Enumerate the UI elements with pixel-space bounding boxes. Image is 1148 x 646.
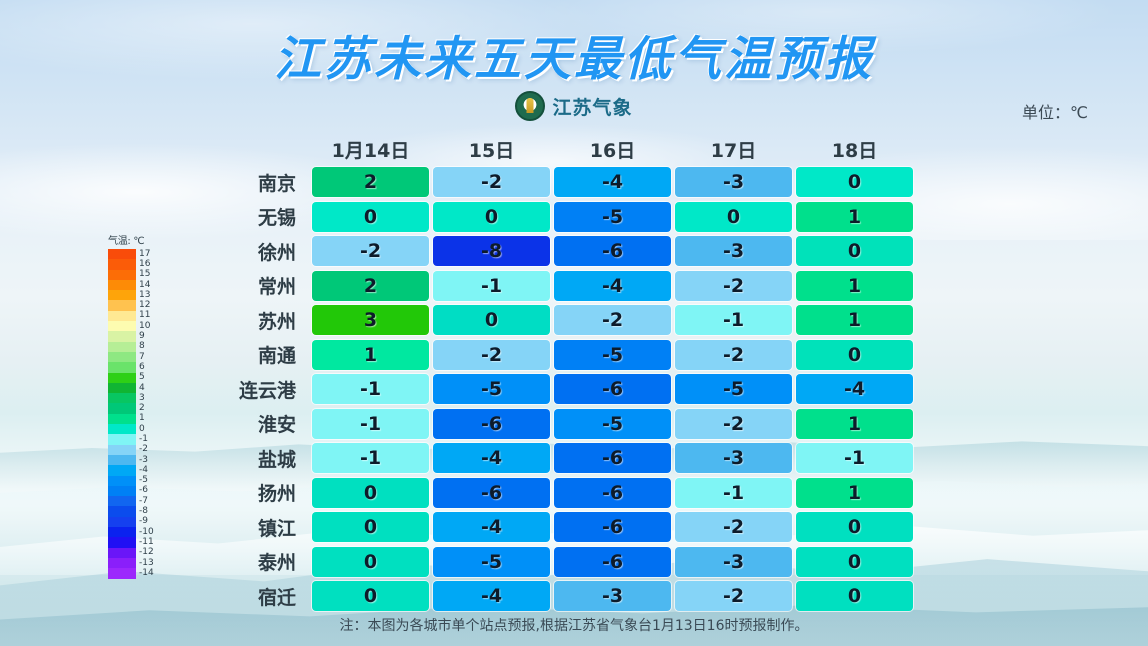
legend-color-swatch — [108, 414, 136, 424]
temperature-cell: 1 — [312, 340, 429, 370]
date-header: 17日 — [673, 136, 794, 163]
table-row: 镇江0-4-6-20 — [195, 510, 915, 545]
legend-entry: -6 — [108, 486, 162, 496]
legend-entry: 17 — [108, 249, 162, 259]
temperature-cell-wrapper: -2 — [673, 338, 794, 373]
temperature-cell-wrapper: -5 — [673, 372, 794, 407]
legend-color-swatch — [108, 270, 136, 280]
table-row: 淮安-1-6-5-21 — [195, 407, 915, 442]
legend-tick-label: 7 — [139, 353, 145, 362]
temperature-cell: 2 — [312, 271, 429, 301]
legend-entry: 6 — [108, 362, 162, 372]
legend-entry: -2 — [108, 445, 162, 455]
temperature-cell-wrapper: 0 — [794, 338, 915, 373]
legend-tick-label: 14 — [139, 281, 150, 290]
temperature-cell: -1 — [312, 409, 429, 439]
temperature-cell-wrapper: -2 — [552, 303, 673, 338]
temperature-cell-wrapper: -6 — [431, 476, 552, 511]
temperature-cell-wrapper: -1 — [794, 441, 915, 476]
temperature-cell: 3 — [312, 305, 429, 335]
temperature-cell-wrapper: 0 — [310, 579, 431, 614]
legend-tick-label: -12 — [139, 548, 154, 557]
legend-color-swatch — [108, 362, 136, 372]
legend-color-swatch — [108, 527, 136, 537]
legend-tick-label: -2 — [139, 445, 148, 454]
legend-color-swatch — [108, 424, 136, 434]
legend-entry: 12 — [108, 300, 162, 310]
temperature-cell: -5 — [554, 409, 671, 439]
temperature-cell: -6 — [433, 409, 550, 439]
table-row: 无锡00-501 — [195, 200, 915, 235]
temperature-cell: -6 — [554, 547, 671, 577]
legend-tick-label: -10 — [139, 528, 154, 537]
forecast-table: 1月14日 15日 16日 17日 18日 南京2-2-4-30无锡00-501… — [195, 133, 915, 614]
temperature-cell: -2 — [675, 409, 792, 439]
temperature-cell-wrapper: 0 — [310, 510, 431, 545]
temperature-cell-wrapper: 3 — [310, 303, 431, 338]
temperature-cell: -3 — [675, 443, 792, 473]
legend-tick-label: 13 — [139, 291, 150, 300]
temperature-cell-wrapper: -2 — [431, 165, 552, 200]
temperature-cell-wrapper: 0 — [794, 234, 915, 269]
temperature-cell: 0 — [796, 236, 913, 266]
legend-color-swatch — [108, 506, 136, 516]
temperature-cell-wrapper: 1 — [794, 476, 915, 511]
temperature-cell-wrapper: 0 — [310, 476, 431, 511]
table-row: 南通1-2-5-20 — [195, 338, 915, 373]
temperature-cell-wrapper: 0 — [431, 200, 552, 235]
legend-entry: 10 — [108, 321, 162, 331]
legend-color-swatch — [108, 259, 136, 269]
temperature-cell-wrapper: -2 — [673, 579, 794, 614]
legend-color-swatch — [108, 280, 136, 290]
legend-color-swatch — [108, 517, 136, 527]
legend-color-swatch — [108, 290, 136, 300]
legend-tick-label: 1 — [139, 414, 145, 423]
table-row: 连云港-1-5-6-5-4 — [195, 372, 915, 407]
temperature-cell: 1 — [796, 202, 913, 232]
legend-tick-label: 4 — [139, 384, 145, 393]
temperature-cell-wrapper: -2 — [673, 510, 794, 545]
legend-entry: -12 — [108, 548, 162, 558]
temperature-cell-wrapper: -3 — [673, 545, 794, 580]
temperature-cell: 0 — [796, 512, 913, 542]
legend-entry: -10 — [108, 527, 162, 537]
temperature-cell: -2 — [675, 340, 792, 370]
legend-entry: -14 — [108, 568, 162, 578]
temperature-cell: -5 — [433, 547, 550, 577]
table-row: 宿迁0-4-3-20 — [195, 579, 915, 614]
legend-tick-label: -11 — [139, 538, 154, 547]
legend-tick-label: -6 — [139, 486, 148, 495]
temperature-cell: 0 — [433, 305, 550, 335]
date-header: 15日 — [431, 136, 552, 163]
temperature-cell-wrapper: 1 — [794, 303, 915, 338]
legend-color-swatch — [108, 393, 136, 403]
temperature-cell: 0 — [675, 202, 792, 232]
temperature-cell-wrapper: 1 — [794, 269, 915, 304]
temperature-cell-wrapper: -2 — [673, 407, 794, 442]
temperature-cell-wrapper: -4 — [552, 165, 673, 200]
table-row: 徐州-2-8-6-30 — [195, 234, 915, 269]
temperature-cell: -2 — [312, 236, 429, 266]
legend-tick-label: -8 — [139, 507, 148, 516]
legend-tick-label: 5 — [139, 373, 145, 382]
temperature-colorbar-legend: 气温: ℃ 17161514131211109876543210-1-2-3-4… — [108, 232, 162, 579]
brand-logo: 江苏气象 — [0, 91, 1148, 121]
legend-tick-label: 16 — [139, 260, 150, 269]
legend-tick-label: -7 — [139, 497, 148, 506]
legend-color-swatch — [108, 331, 136, 341]
temperature-cell: -6 — [554, 443, 671, 473]
temperature-cell-wrapper: -6 — [552, 234, 673, 269]
legend-color-swatch — [108, 373, 136, 383]
legend-tick-label: 3 — [139, 394, 145, 403]
city-name-cell: 淮安 — [195, 410, 310, 437]
temperature-cell-wrapper: -3 — [673, 165, 794, 200]
legend-entry: 9 — [108, 331, 162, 341]
footnote: 注：本图为各城市单个站点预报,根据江苏省气象台1月13日16时预报制作。 — [0, 615, 1148, 635]
temperature-cell-wrapper: -5 — [552, 407, 673, 442]
legend-entry: 13 — [108, 290, 162, 300]
temperature-cell: -2 — [675, 581, 792, 611]
temperature-cell: -4 — [796, 374, 913, 404]
temperature-cell: -4 — [554, 271, 671, 301]
temperature-cell: 1 — [796, 271, 913, 301]
temperature-cell-wrapper: 0 — [794, 579, 915, 614]
temperature-cell-wrapper: -6 — [552, 441, 673, 476]
temperature-cell-wrapper: -5 — [552, 338, 673, 373]
temperature-cell: -4 — [433, 512, 550, 542]
legend-color-swatch — [108, 558, 136, 568]
temperature-cell: -1 — [312, 374, 429, 404]
temperature-cell: 0 — [312, 478, 429, 508]
temperature-cell: -3 — [675, 547, 792, 577]
temperature-cell-wrapper: -1 — [310, 407, 431, 442]
date-header: 16日 — [552, 136, 673, 163]
temperature-cell: 0 — [312, 581, 429, 611]
legend-swatch-list: 17161514131211109876543210-1-2-3-4-5-6-7… — [108, 249, 162, 579]
legend-tick-label: -5 — [139, 476, 148, 485]
temperature-cell: -2 — [675, 271, 792, 301]
temperature-cell-wrapper: -6 — [552, 510, 673, 545]
legend-tick-label: 0 — [139, 425, 145, 434]
temperature-cell-wrapper: 0 — [794, 165, 915, 200]
table-body: 南京2-2-4-30无锡00-501徐州-2-8-6-30常州2-1-4-21苏… — [195, 165, 915, 614]
date-header: 18日 — [794, 136, 915, 163]
temperature-cell: -3 — [675, 236, 792, 266]
temperature-cell-wrapper: -1 — [673, 303, 794, 338]
legend-tick-label: -9 — [139, 517, 148, 526]
temperature-cell-wrapper: -4 — [431, 441, 552, 476]
temperature-cell: -6 — [554, 512, 671, 542]
temperature-cell: -6 — [554, 374, 671, 404]
temperature-cell-wrapper: -4 — [431, 510, 552, 545]
temperature-cell: 1 — [796, 409, 913, 439]
legend-entry: -1 — [108, 434, 162, 444]
legend-entry: 2 — [108, 403, 162, 413]
legend-entry: 16 — [108, 259, 162, 269]
temperature-cell: -3 — [675, 167, 792, 197]
temperature-cell: -5 — [433, 374, 550, 404]
table-header-row: 1月14日 15日 16日 17日 18日 — [195, 133, 915, 165]
legend-entry: -3 — [108, 455, 162, 465]
temperature-cell-wrapper: 0 — [431, 303, 552, 338]
legend-tick-label: 11 — [139, 311, 150, 320]
legend-entry: -7 — [108, 496, 162, 506]
temperature-cell-wrapper: -2 — [673, 269, 794, 304]
table-row: 苏州30-2-11 — [195, 303, 915, 338]
legend-color-swatch — [108, 342, 136, 352]
temperature-cell-wrapper: -1 — [310, 441, 431, 476]
temperature-cell: -1 — [433, 271, 550, 301]
legend-entry: -13 — [108, 558, 162, 568]
legend-entry: 8 — [108, 342, 162, 352]
temperature-cell-wrapper: 0 — [794, 510, 915, 545]
temperature-cell-wrapper: -6 — [431, 407, 552, 442]
legend-entry: 15 — [108, 270, 162, 280]
legend-entry: 4 — [108, 383, 162, 393]
temperature-cell-wrapper: 1 — [794, 200, 915, 235]
temperature-cell-wrapper: 1 — [794, 407, 915, 442]
legend-entry: 3 — [108, 393, 162, 403]
temperature-cell-wrapper: -8 — [431, 234, 552, 269]
legend-color-swatch — [108, 403, 136, 413]
temperature-cell-wrapper: -4 — [431, 579, 552, 614]
table-row: 常州2-1-4-21 — [195, 269, 915, 304]
temperature-cell: -8 — [433, 236, 550, 266]
legend-color-swatch — [108, 352, 136, 362]
temperature-cell-wrapper: -4 — [794, 372, 915, 407]
temperature-cell-wrapper: -1 — [673, 476, 794, 511]
temperature-cell: -6 — [554, 478, 671, 508]
legend-entry: 0 — [108, 424, 162, 434]
legend-color-swatch — [108, 548, 136, 558]
temperature-cell: -4 — [433, 443, 550, 473]
unit-label: 单位：℃ — [1022, 99, 1088, 123]
temperature-cell-wrapper: -6 — [552, 476, 673, 511]
city-name-cell: 泰州 — [195, 548, 310, 575]
legend-entry: 7 — [108, 352, 162, 362]
city-name-cell: 南京 — [195, 169, 310, 196]
table-row: 盐城-1-4-6-3-1 — [195, 441, 915, 476]
legend-entry: 14 — [108, 280, 162, 290]
temperature-cell: 0 — [796, 340, 913, 370]
legend-color-swatch — [108, 465, 136, 475]
city-name-cell: 常州 — [195, 272, 310, 299]
temperature-cell: 0 — [796, 167, 913, 197]
legend-tick-label: 9 — [139, 332, 145, 341]
legend-entry: -9 — [108, 517, 162, 527]
table-row: 泰州0-5-6-30 — [195, 545, 915, 580]
temperature-cell-wrapper: -4 — [552, 269, 673, 304]
legend-entry: 1 — [108, 414, 162, 424]
legend-entry: -8 — [108, 506, 162, 516]
legend-tick-label: -4 — [139, 466, 148, 475]
temperature-cell-wrapper: -3 — [673, 234, 794, 269]
legend-color-swatch — [108, 537, 136, 547]
legend-tick-label: -13 — [139, 559, 154, 568]
legend-entry: -11 — [108, 537, 162, 547]
temperature-cell-wrapper: 0 — [310, 545, 431, 580]
legend-tick-label: 8 — [139, 342, 145, 351]
temperature-cell: 0 — [796, 581, 913, 611]
temperature-cell: 1 — [796, 305, 913, 335]
legend-color-swatch — [108, 476, 136, 486]
temperature-cell-wrapper: -2 — [431, 338, 552, 373]
temperature-cell: -6 — [433, 478, 550, 508]
legend-title: 气温: ℃ — [108, 232, 162, 247]
legend-tick-label: 2 — [139, 404, 145, 413]
legend-entry: 5 — [108, 373, 162, 383]
temperature-cell-wrapper: 0 — [310, 200, 431, 235]
legend-tick-label: -14 — [139, 569, 154, 578]
legend-entry: -5 — [108, 476, 162, 486]
temperature-cell: -2 — [433, 167, 550, 197]
temperature-cell-wrapper: -6 — [552, 545, 673, 580]
legend-color-swatch — [108, 300, 136, 310]
temperature-cell-wrapper: -6 — [552, 372, 673, 407]
temperature-cell: 2 — [312, 167, 429, 197]
city-name-cell: 镇江 — [195, 514, 310, 541]
temperature-cell: -5 — [675, 374, 792, 404]
jiangsu-meteorology-emblem-icon — [515, 91, 545, 121]
city-name-cell: 连云港 — [195, 376, 310, 403]
legend-tick-label: 17 — [139, 250, 150, 259]
temperature-cell: 0 — [433, 202, 550, 232]
temperature-cell: -6 — [554, 236, 671, 266]
legend-color-swatch — [108, 249, 136, 259]
temperature-cell-wrapper: -5 — [552, 200, 673, 235]
legend-tick-label: 10 — [139, 322, 150, 331]
temperature-cell-wrapper: 0 — [794, 545, 915, 580]
temperature-cell: -1 — [796, 443, 913, 473]
legend-tick-label: 6 — [139, 363, 145, 372]
table-row: 南京2-2-4-30 — [195, 165, 915, 200]
temperature-cell-wrapper: -5 — [431, 372, 552, 407]
temperature-cell: -1 — [675, 478, 792, 508]
temperature-cell: 1 — [796, 478, 913, 508]
legend-color-swatch — [108, 568, 136, 578]
temperature-cell: -1 — [675, 305, 792, 335]
legend-tick-label: 12 — [139, 301, 150, 310]
city-name-cell: 徐州 — [195, 238, 310, 265]
temperature-cell-wrapper: 2 — [310, 269, 431, 304]
legend-color-swatch — [108, 383, 136, 393]
temperature-cell: -4 — [433, 581, 550, 611]
temperature-cell: -2 — [433, 340, 550, 370]
legend-tick-label: 15 — [139, 270, 150, 279]
city-name-cell: 无锡 — [195, 203, 310, 230]
temperature-cell: -1 — [312, 443, 429, 473]
legend-color-swatch — [108, 311, 136, 321]
legend-entry: -4 — [108, 465, 162, 475]
legend-color-swatch — [108, 496, 136, 506]
page-title: 江苏未来五天最低气温预报 — [0, 20, 1148, 89]
legend-color-swatch — [108, 455, 136, 465]
temperature-cell-wrapper: -5 — [431, 545, 552, 580]
city-name-cell: 南通 — [195, 341, 310, 368]
temperature-cell-wrapper: -1 — [310, 372, 431, 407]
temperature-cell-wrapper: -3 — [552, 579, 673, 614]
legend-tick-label: -3 — [139, 456, 148, 465]
temperature-cell: 0 — [312, 547, 429, 577]
city-name-cell: 苏州 — [195, 307, 310, 334]
temperature-cell-wrapper: 1 — [310, 338, 431, 373]
legend-entry: 11 — [108, 311, 162, 321]
legend-color-swatch — [108, 486, 136, 496]
city-name-cell: 盐城 — [195, 445, 310, 472]
legend-color-swatch — [108, 445, 136, 455]
legend-color-swatch — [108, 434, 136, 444]
legend-color-swatch — [108, 321, 136, 331]
temperature-cell: -3 — [554, 581, 671, 611]
temperature-cell-wrapper: -2 — [310, 234, 431, 269]
temperature-cell: -2 — [554, 305, 671, 335]
date-header: 1月14日 — [310, 136, 431, 163]
temperature-cell: -5 — [554, 340, 671, 370]
temperature-cell-wrapper: -1 — [431, 269, 552, 304]
temperature-cell: -5 — [554, 202, 671, 232]
table-row: 扬州0-6-6-11 — [195, 476, 915, 511]
temperature-cell: 0 — [312, 202, 429, 232]
temperature-cell-wrapper: 0 — [673, 200, 794, 235]
temperature-cell: -2 — [675, 512, 792, 542]
city-name-cell: 宿迁 — [195, 583, 310, 610]
brand-logo-label: 江苏气象 — [552, 93, 632, 120]
temperature-cell-wrapper: -3 — [673, 441, 794, 476]
temperature-cell-wrapper: 2 — [310, 165, 431, 200]
temperature-cell: 0 — [312, 512, 429, 542]
legend-tick-label: -1 — [139, 435, 148, 444]
temperature-cell: 0 — [796, 547, 913, 577]
temperature-cell: -4 — [554, 167, 671, 197]
city-name-cell: 扬州 — [195, 479, 310, 506]
